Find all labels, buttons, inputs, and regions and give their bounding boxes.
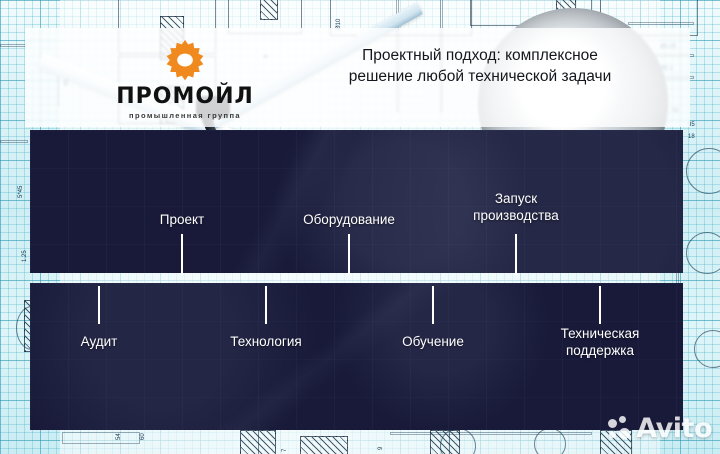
timeline-step-zapusk-line-1: Запуск <box>435 191 597 208</box>
poster-canvas: 45 5*45 1.25 9 Ø10 60 Ø0.05 Ø0.1 50 35 1… <box>0 0 720 454</box>
brand-tagline: промышленная группа <box>95 111 275 120</box>
tick-mark-lower-1 <box>98 286 100 324</box>
timeline-step-tehpodderzhka: Техническая поддержка <box>519 326 681 360</box>
gear-icon <box>162 38 208 84</box>
timeline-step-tehnologiya: Технология <box>185 334 347 351</box>
timeline-step-proekt: Проект <box>101 212 263 229</box>
brand-name: ПРОМОЙЛ <box>95 86 275 108</box>
timeline-step-obuchenie-line-1: Обучение <box>352 334 514 351</box>
timeline-step-obuchenie: Обучение <box>352 334 514 351</box>
tick-mark-lower-2 <box>265 286 267 324</box>
tick-mark-lower-3 <box>432 286 434 324</box>
tick-mark-upper-2 <box>348 234 350 275</box>
avito-watermark-text: Avito <box>636 415 712 442</box>
page-title: Проектный подход: комплексное решение лю… <box>295 46 665 88</box>
timeline-step-audit: Аудит <box>18 334 180 351</box>
page-title-line-1: Проектный подход: комплексное <box>295 46 665 67</box>
brand-logo: ПРОМОЙЛ промышленная группа <box>95 38 275 120</box>
timeline-step-audit-line-1: Аудит <box>18 334 180 351</box>
timeline-step-zapusk: Запуск производства <box>435 191 597 225</box>
tick-mark-upper-3 <box>515 234 517 275</box>
avito-dots-icon <box>608 416 634 442</box>
tick-mark-lower-4 <box>599 286 601 324</box>
timeline-step-oborudovanie-line-1: Оборудование <box>268 212 430 229</box>
page-title-line-2: решение любой технической задачи <box>295 67 665 88</box>
avito-watermark: Avito <box>608 415 712 442</box>
timeline-step-tehpodderzhka-line-2: поддержка <box>519 343 681 360</box>
tick-mark-upper-1 <box>181 234 183 275</box>
timeline-step-tehnologiya-line-1: Технология <box>185 334 347 351</box>
timeline-step-proekt-line-1: Проект <box>101 212 263 229</box>
timeline-step-tehpodderzhka-line-1: Техническая <box>519 326 681 343</box>
timeline-step-oborudovanie: Оборудование <box>268 212 430 229</box>
header-panel: ПРОМОЙЛ промышленная группа Проектный по… <box>25 28 690 127</box>
timeline-step-zapusk-line-2: производства <box>435 208 597 225</box>
